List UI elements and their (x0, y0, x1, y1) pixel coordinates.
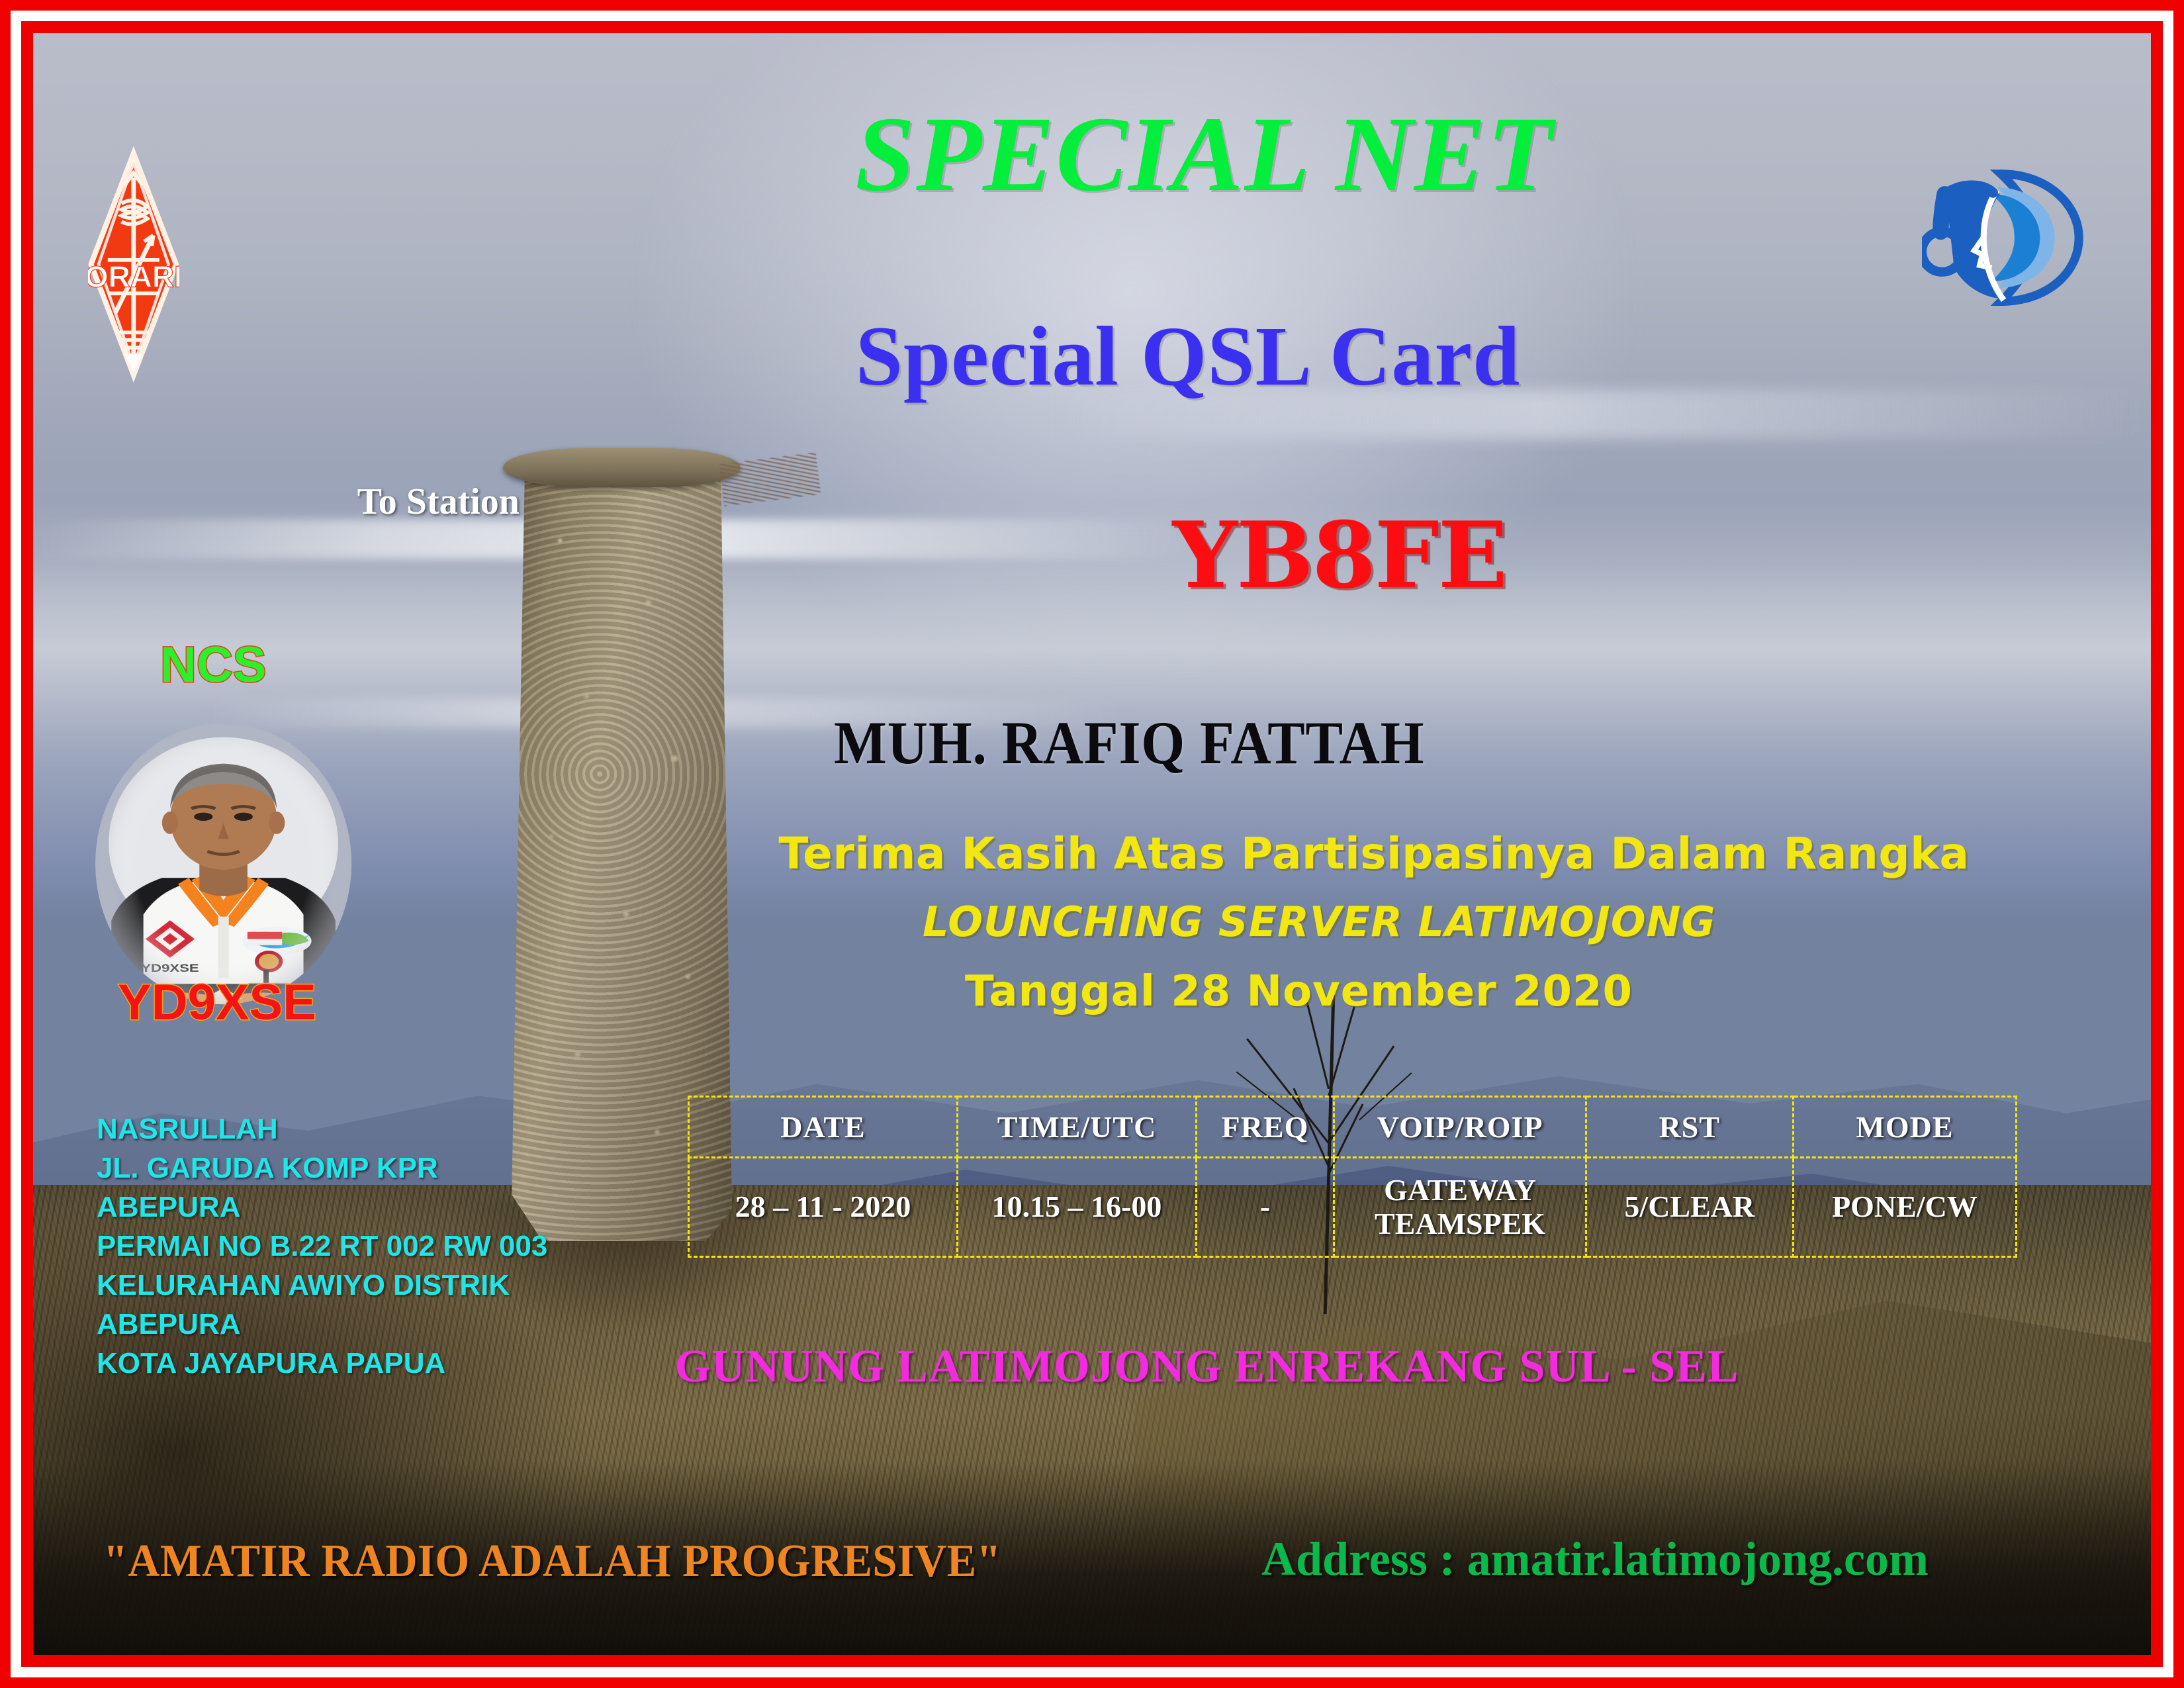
address-line: ABEPURA (97, 1305, 547, 1344)
table-header-row: DATE TIME/UTC FREQ VOIP/ROIP RST MODE (688, 1096, 2017, 1157)
cell-freq: - (1196, 1157, 1334, 1256)
column-header-voip-roip: VOIP/ROIP (1334, 1096, 1586, 1157)
card-subtitle-special-qsl-card: Special QSL Card (856, 314, 1521, 399)
address-line: JL. GARUDA KOMP KPR (97, 1149, 547, 1188)
address-line: KOTA JAYAPURA PAPUA (97, 1344, 547, 1383)
web-address-text: Address : amatir.latimojong.com (1261, 1532, 1929, 1587)
slogan-text: "AMATIR RADIO ADALAH PROGRESIVE" (103, 1535, 1001, 1588)
orari-logo: ORARI (88, 98, 179, 430)
cell-voip-roip: GATEWAY TEAMSPEK (1334, 1157, 1586, 1256)
event-date-line: Tanggal 28 November 2020 (965, 967, 1633, 1016)
cell-mode: PONE/CW (1793, 1157, 2017, 1256)
event-line: LOUNCHING SERVER LATIMOJONG (923, 898, 1715, 946)
to-station-label: To Station (357, 481, 520, 523)
qsl-card: ORARI (0, 0, 2184, 1688)
operator-name: MUH. RAFIQ FATTAH (834, 708, 1425, 778)
cell-voip-roip-line2: TEAMSPEK (1335, 1207, 1585, 1241)
ncs-role-label: NCS (160, 636, 266, 694)
recipient-address-block: NASRULLAH JL. GARUDA KOMP KPR ABEPURA PE… (97, 1110, 547, 1383)
location-line: GUNUNG LATIMOJONG ENREKANG SUL - SEL (675, 1340, 1739, 1393)
column-header-mode: MODE (1793, 1096, 2017, 1157)
recipient-callsign: YB8FE (1173, 510, 1506, 601)
cell-voip-roip-line1: GATEWAY (1335, 1173, 1585, 1207)
cell-rst: 5/CLEAR (1586, 1157, 1793, 1256)
address-line: KELURAHAN AWIYO DISTRIK (97, 1266, 547, 1305)
cell-date: 28 – 11 - 2020 (688, 1157, 957, 1256)
ncs-callsign: YD9XSE (118, 974, 316, 1031)
orari-logo-text: ORARI (88, 259, 179, 294)
thanks-line: Terima Kasih Atas Partisipasinya Dalam R… (778, 828, 1969, 879)
address-line: NASRULLAH (97, 1110, 547, 1149)
cell-time-utc: 10.15 – 16-00 (958, 1157, 1197, 1256)
qso-log-table: DATE TIME/UTC FREQ VOIP/ROIP RST MODE 28… (688, 1096, 2018, 1258)
card-inner-red-frame: ORARI (21, 21, 2163, 1667)
column-header-freq: FREQ (1196, 1096, 1334, 1157)
card-background-photo: ORARI (33, 33, 2151, 1655)
column-header-time-utc: TIME/UTC (958, 1096, 1197, 1157)
address-line: PERMAI NO B.22 RT 002 RW 003 (97, 1227, 547, 1266)
table-row: 28 – 11 - 2020 10.15 – 16-00 - GATEWAY T… (688, 1157, 2017, 1256)
column-header-date: DATE (688, 1096, 957, 1157)
voip-logo (1922, 111, 2083, 364)
card-white-gap: ORARI (11, 11, 2173, 1677)
ncs-operator-photo: YD9XSE (90, 721, 357, 1006)
card-title-special-net: SPECIAL NET (855, 101, 1554, 209)
address-line: ABEPURA (97, 1188, 547, 1227)
column-header-rst: RST (1586, 1096, 1793, 1157)
